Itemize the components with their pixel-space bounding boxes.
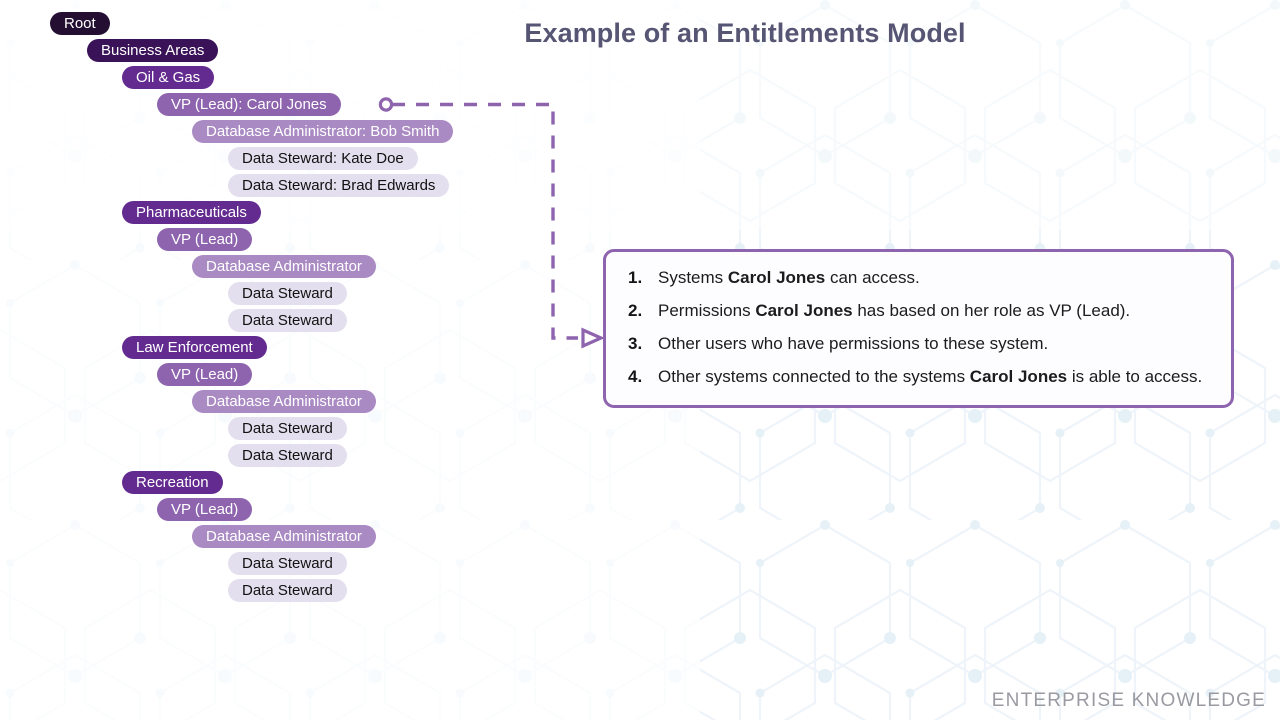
callout-item-text: Systems Carol Jones can access. [658, 266, 920, 290]
tree-node-pill-area[interactable]: Oil & Gas [122, 66, 214, 89]
callout-emphasis: Carol Jones [728, 268, 825, 287]
tree-node-row: Data Steward [0, 309, 560, 336]
callout-emphasis: Carol Jones [755, 301, 852, 320]
tree-node-row: VP (Lead): Carol Jones [0, 93, 560, 120]
tree-node-pill-steward[interactable]: Data Steward: Kate Doe [228, 147, 418, 170]
tree-node-row: Data Steward [0, 579, 560, 606]
tree-node-row: Data Steward [0, 444, 560, 471]
tree-node-pill-steward[interactable]: Data Steward [228, 444, 347, 467]
tree-node-row: Data Steward [0, 552, 560, 579]
callout-plain-text: Other systems connected to the systems [658, 367, 970, 386]
tree-node-row: Oil & Gas [0, 66, 560, 93]
callout-item-number: 1. [628, 266, 658, 290]
tree-node-pill-area[interactable]: Law Enforcement [122, 336, 267, 359]
tree-node-row: Database Administrator [0, 525, 560, 552]
callout-item-number: 4. [628, 365, 658, 389]
entitlements-tree: RootBusiness AreasOil & GasVP (Lead): Ca… [0, 12, 560, 606]
tree-node-pill-steward[interactable]: Data Steward [228, 417, 347, 440]
tree-node-pill-dba[interactable]: Database Administrator [192, 390, 376, 413]
callout-plain-text: has based on her role as VP (Lead). [853, 301, 1131, 320]
tree-node-pill-steward[interactable]: Data Steward [228, 282, 347, 305]
tree-node-pill-vp[interactable]: VP (Lead) [157, 498, 252, 521]
tree-node-row: Pharmaceuticals [0, 201, 560, 228]
callout-item-text: Other users who have permissions to thes… [658, 332, 1048, 356]
callout-box: 1.Systems Carol Jones can access.2.Permi… [603, 249, 1234, 408]
tree-node-pill-dba[interactable]: Database Administrator: Bob Smith [192, 120, 453, 143]
tree-node-row: Data Steward [0, 417, 560, 444]
footer-brand: ENTERPRISE KNOWLEDGE [992, 690, 1266, 712]
callout-item-text: Other systems connected to the systems C… [658, 365, 1202, 389]
tree-node-pill-steward[interactable]: Data Steward [228, 579, 347, 602]
tree-node-row: Root [0, 12, 560, 39]
tree-node-row: Business Areas [0, 39, 560, 66]
tree-node-row: Data Steward [0, 282, 560, 309]
tree-node-row: Database Administrator [0, 255, 560, 282]
callout-list-item: 2.Permissions Carol Jones has based on h… [628, 299, 1213, 323]
tree-node-pill-dba[interactable]: Database Administrator [192, 255, 376, 278]
tree-node-row: VP (Lead) [0, 228, 560, 255]
tree-node-row: Database Administrator [0, 390, 560, 417]
callout-item-text: Permissions Carol Jones has based on her… [658, 299, 1130, 323]
callout-plain-text: Permissions [658, 301, 755, 320]
tree-node-row: Data Steward: Brad Edwards [0, 174, 560, 201]
callout-item-number: 2. [628, 299, 658, 323]
tree-node-pill-vp[interactable]: VP (Lead) [157, 228, 252, 251]
tree-node-pill-root[interactable]: Root [50, 12, 110, 35]
tree-node-row: Database Administrator: Bob Smith [0, 120, 560, 147]
callout-plain-text: Other users who have permissions to thes… [658, 334, 1048, 353]
callout-list-item: 3.Other users who have permissions to th… [628, 332, 1213, 356]
tree-node-pill-steward[interactable]: Data Steward: Brad Edwards [228, 174, 449, 197]
tree-node-pill-steward[interactable]: Data Steward [228, 552, 347, 575]
connector-arrowhead [583, 330, 601, 346]
callout-item-number: 3. [628, 332, 658, 356]
tree-node-pill-vp[interactable]: VP (Lead): Carol Jones [157, 93, 341, 116]
tree-node-pill-area[interactable]: Pharmaceuticals [122, 201, 261, 224]
tree-node-row: VP (Lead) [0, 363, 560, 390]
tree-node-row: VP (Lead) [0, 498, 560, 525]
tree-node-pill-area[interactable]: Recreation [122, 471, 223, 494]
callout-plain-text: is able to access. [1067, 367, 1202, 386]
tree-node-pill-group[interactable]: Business Areas [87, 39, 218, 62]
callout-list-item: 1.Systems Carol Jones can access. [628, 266, 1213, 290]
tree-node-pill-steward[interactable]: Data Steward [228, 309, 347, 332]
tree-node-pill-dba[interactable]: Database Administrator [192, 525, 376, 548]
callout-plain-text: can access. [825, 268, 920, 287]
tree-node-row: Law Enforcement [0, 336, 560, 363]
tree-node-row: Recreation [0, 471, 560, 498]
slide-canvas: Example of an Entitlements Model RootBus… [0, 0, 1280, 720]
tree-node-row: Data Steward: Kate Doe [0, 147, 560, 174]
callout-emphasis: Carol Jones [970, 367, 1067, 386]
tree-node-pill-vp[interactable]: VP (Lead) [157, 363, 252, 386]
callout-plain-text: Systems [658, 268, 728, 287]
callout-list-item: 4.Other systems connected to the systems… [628, 365, 1213, 389]
